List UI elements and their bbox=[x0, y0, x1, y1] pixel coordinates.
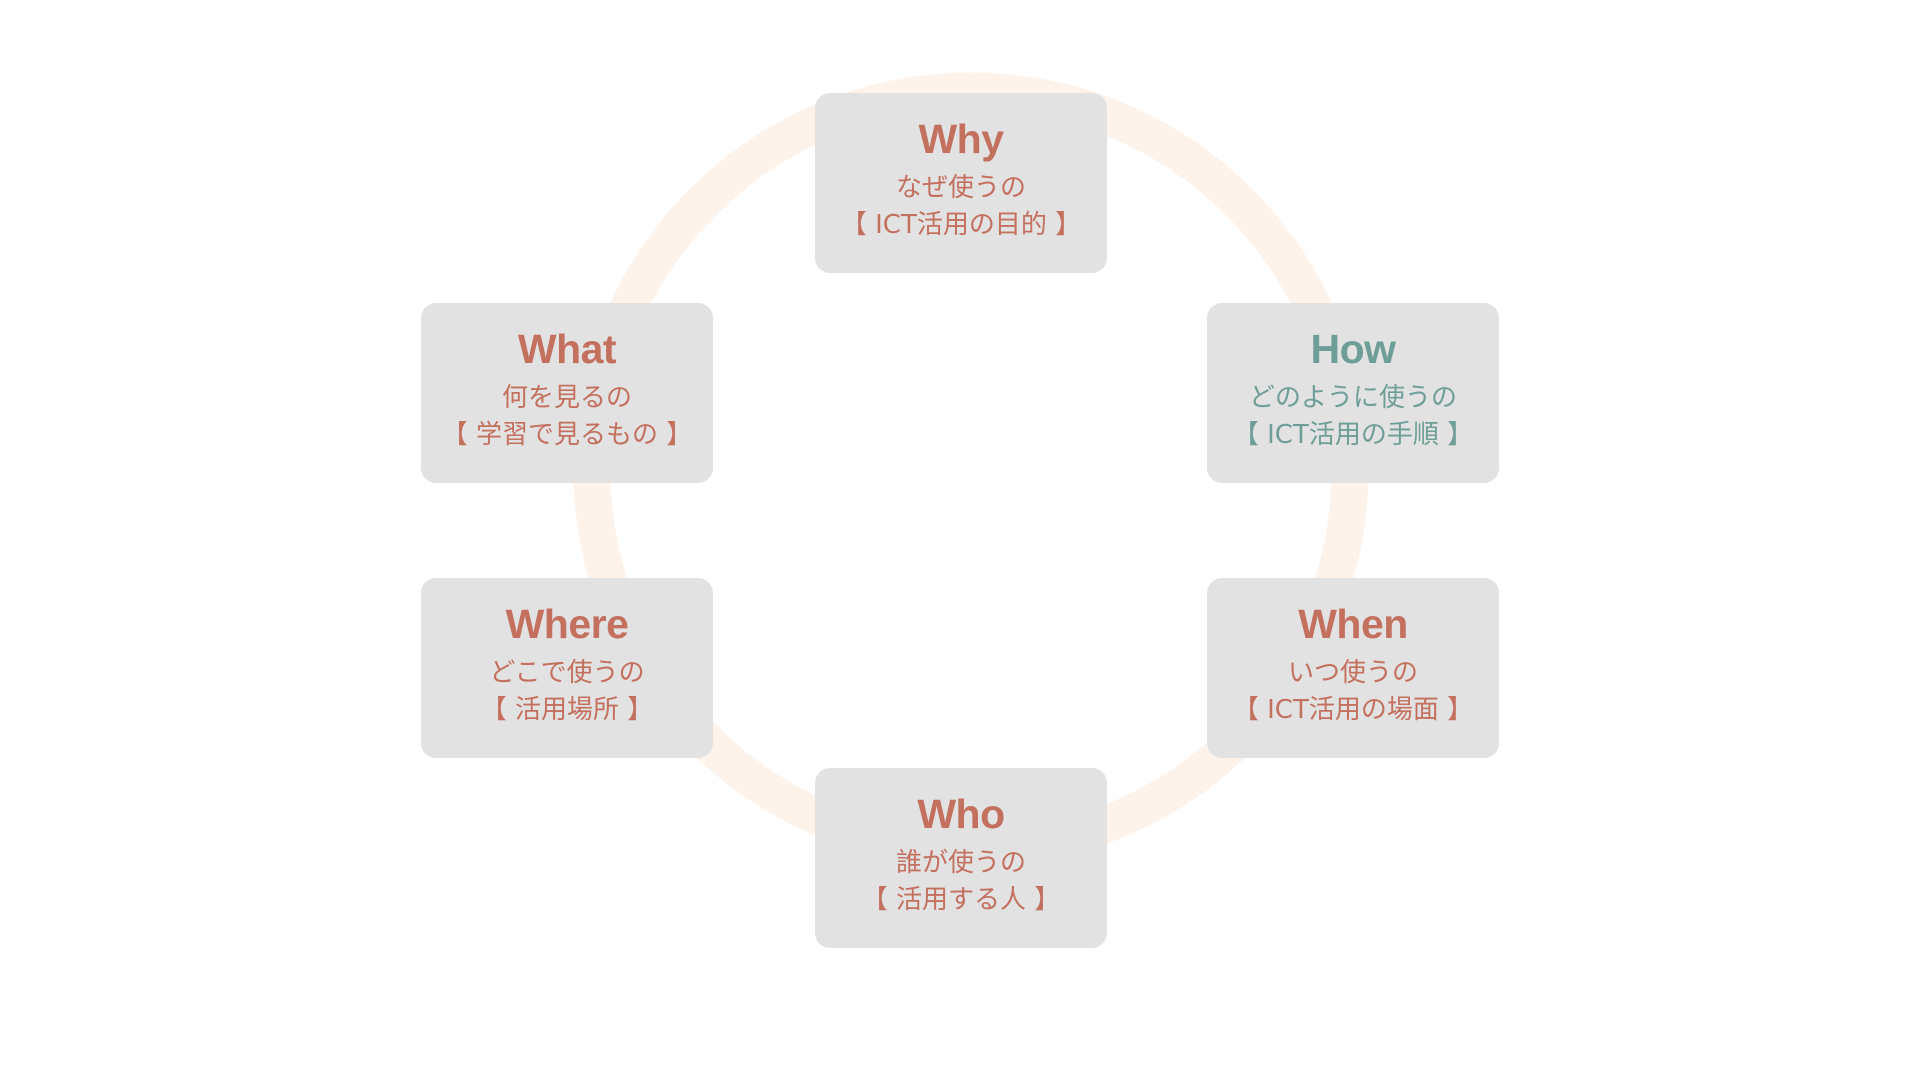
card-how-subtitle: どのように使うの bbox=[1249, 380, 1457, 417]
card-when[interactable]: When いつ使うの 【 ICT活用の場面 】 bbox=[1207, 578, 1499, 758]
card-what[interactable]: What 何を見るの 【 学習で見るもの 】 bbox=[421, 303, 713, 483]
card-who-subtitle: 誰が使うの bbox=[896, 845, 1026, 882]
card-when-bracket: 【 ICT活用の場面 】 bbox=[1233, 692, 1473, 729]
card-when-subtitle: いつ使うの bbox=[1288, 655, 1418, 692]
card-why[interactable]: Why なぜ使うの 【 ICT活用の目的 】 bbox=[815, 93, 1107, 273]
card-how[interactable]: How どのように使うの 【 ICT活用の手順 】 bbox=[1207, 303, 1499, 483]
card-who-title: Who bbox=[917, 793, 1004, 836]
card-where-bracket: 【 活用場所 】 bbox=[481, 692, 654, 729]
card-where-subtitle: どこで使うの bbox=[489, 655, 644, 692]
card-what-bracket: 【 学習で見るもの 】 bbox=[442, 417, 693, 454]
card-when-title: When bbox=[1298, 603, 1408, 646]
card-why-title: Why bbox=[918, 118, 1003, 161]
diagram-canvas: Why なぜ使うの 【 ICT活用の目的 】 What 何を見るの 【 学習で見… bbox=[0, 0, 1920, 1080]
card-how-title: How bbox=[1310, 328, 1395, 371]
card-where[interactable]: Where どこで使うの 【 活用場所 】 bbox=[421, 578, 713, 758]
card-who[interactable]: Who 誰が使うの 【 活用する人 】 bbox=[815, 768, 1107, 948]
card-how-bracket: 【 ICT活用の手順 】 bbox=[1233, 417, 1473, 454]
card-where-title: Where bbox=[506, 603, 629, 646]
card-what-title: What bbox=[518, 328, 616, 371]
card-who-bracket: 【 活用する人 】 bbox=[862, 882, 1061, 919]
card-what-subtitle: 何を見るの bbox=[502, 380, 632, 417]
card-why-subtitle: なぜ使うの bbox=[896, 170, 1026, 207]
card-why-bracket: 【 ICT活用の目的 】 bbox=[841, 207, 1081, 244]
